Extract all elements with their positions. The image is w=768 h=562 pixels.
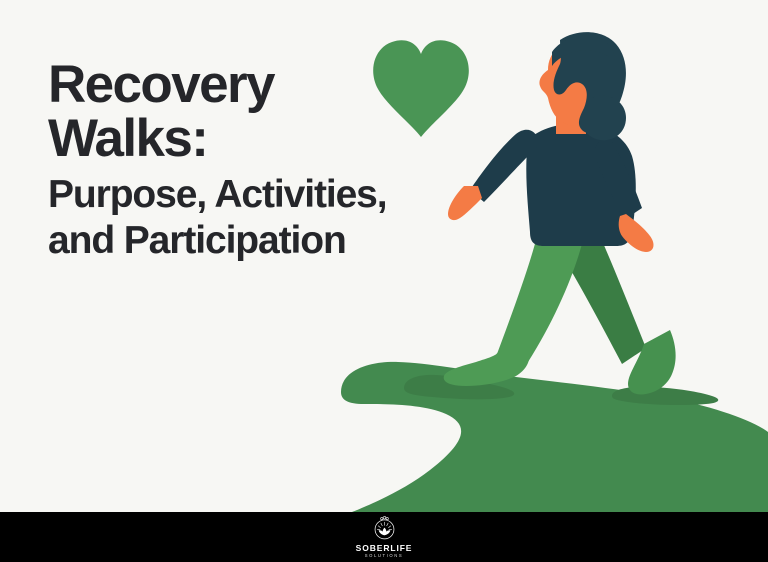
footer-bar: SOBERLIFE SOLUTIONS (0, 512, 768, 562)
poster-canvas: Recovery Walks: Purpose, Activities, and… (0, 0, 768, 562)
hair-bun (582, 96, 626, 141)
page-title: Recovery Walks: (48, 58, 428, 166)
brand-tagline: SOLUTIONS (365, 554, 404, 558)
title-block: Recovery Walks: Purpose, Activities, and… (48, 58, 428, 264)
lotus-sunburst-emblem (371, 515, 398, 542)
brand-logo: SOBERLIFE SOLUTIONS (356, 515, 413, 558)
page-subtitle: Purpose, Activities, and Participation (48, 172, 428, 264)
brand-name: SOBERLIFE (356, 544, 413, 553)
